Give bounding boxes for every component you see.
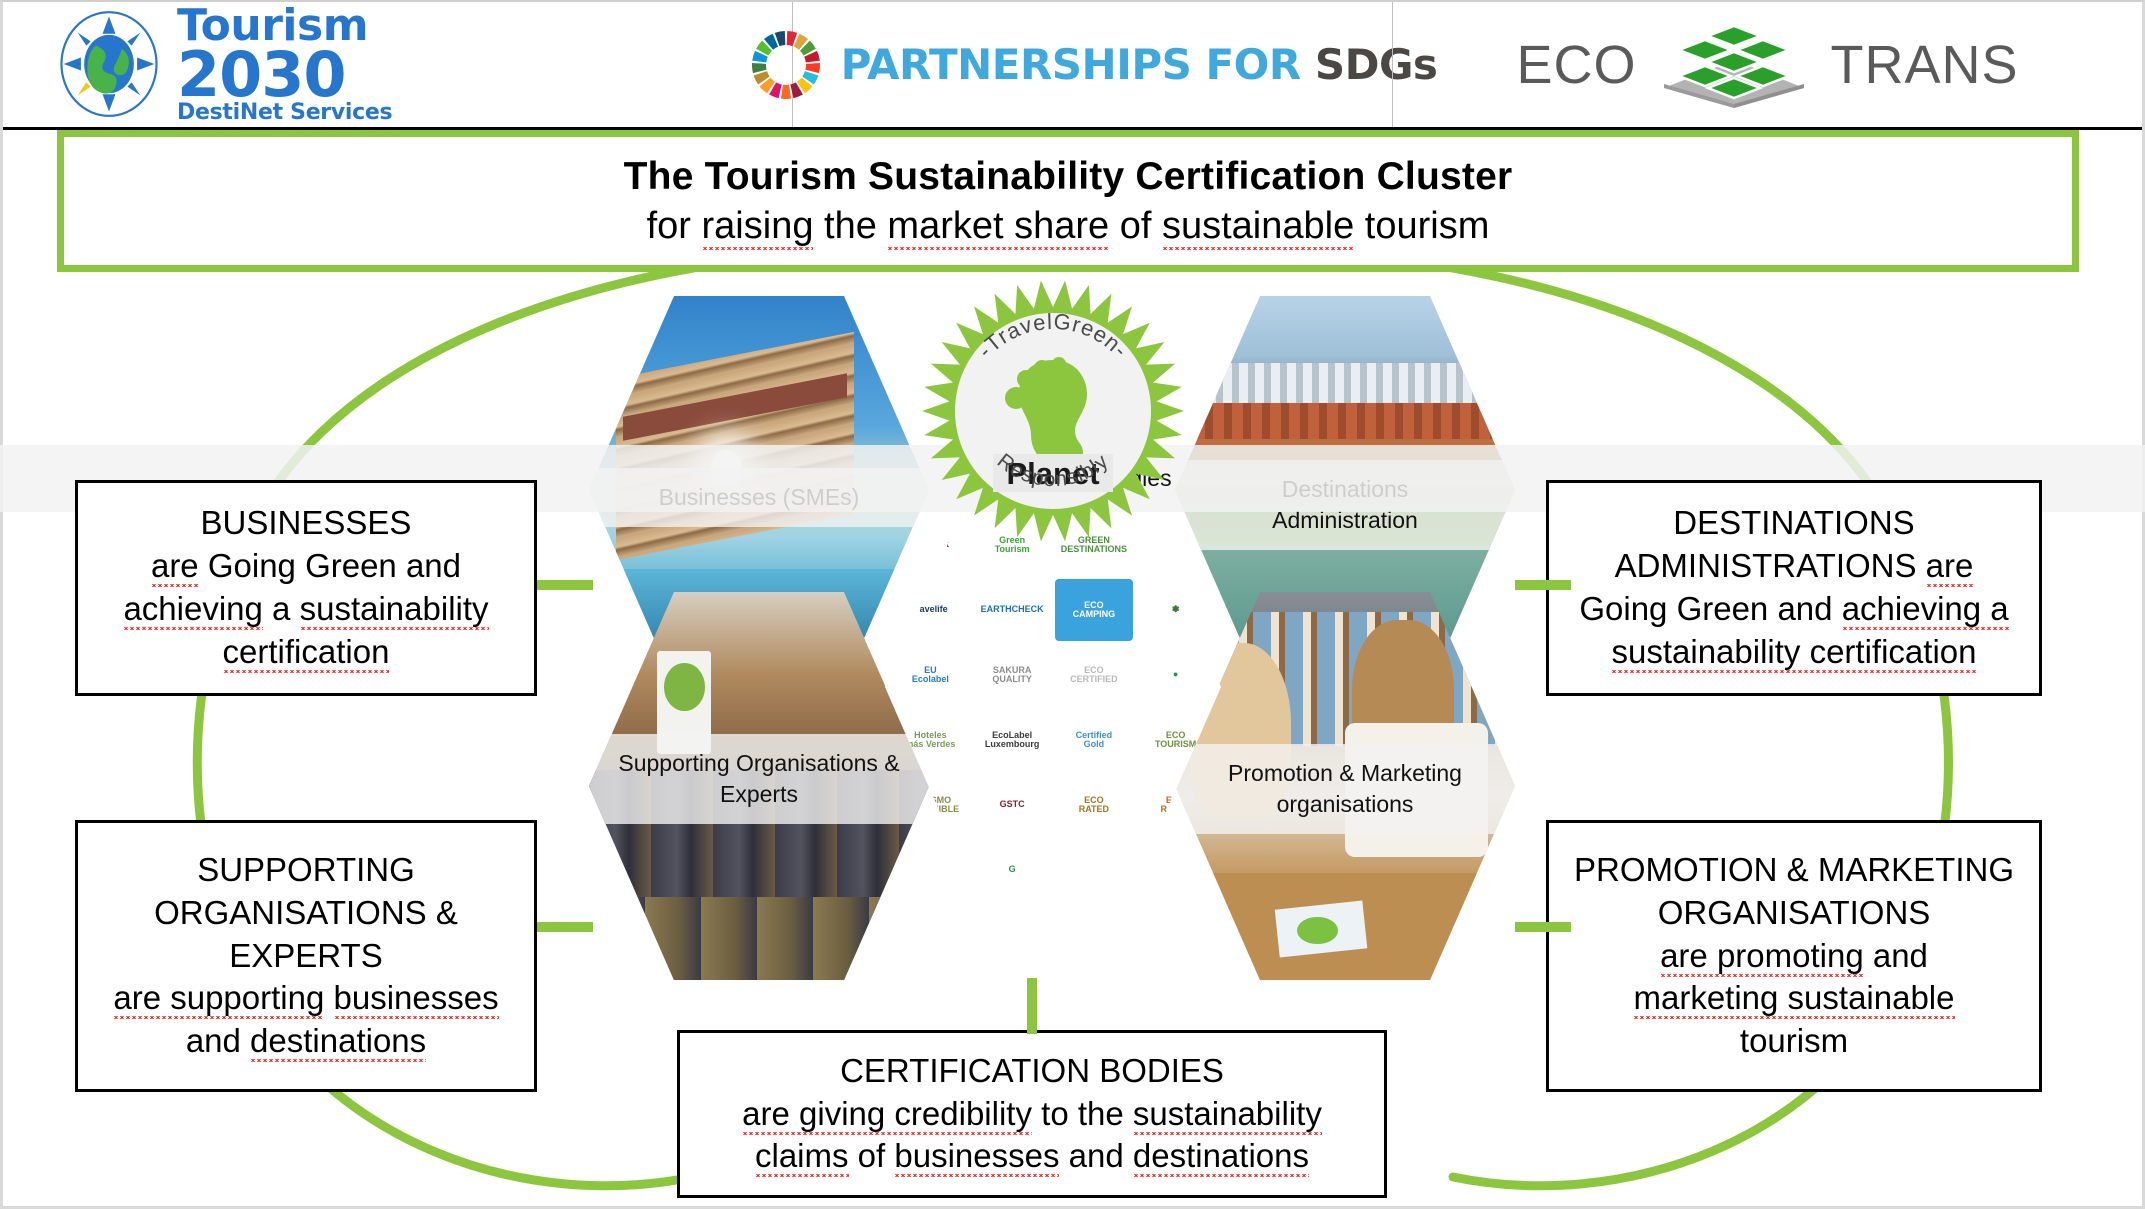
callout-line: tourism: [1574, 1020, 2014, 1063]
plain-text: a: [263, 590, 300, 627]
certification-logo: Certified Gold: [1055, 709, 1134, 771]
cluster-diagram: Businesses (SMEs) Destinations Administr…: [3, 272, 2142, 1208]
certification-logo: GSTC: [973, 774, 1052, 836]
spellchecked-text: businesses: [894, 1137, 1059, 1177]
callout-line: SUPPORTING: [113, 849, 498, 892]
callout-line: BUSINESSES: [123, 502, 488, 545]
plain-text: PROMOTION & MARKETING: [1574, 851, 2014, 888]
travelgreen-planet-badge[interactable]: -TravelGreen- Planet Responsibly: [918, 276, 1188, 546]
plain-text: ORGANISATIONS &: [154, 894, 458, 931]
plain-text: and: [186, 1022, 250, 1059]
callout-line: ADMINISTRATIONS are: [1579, 545, 2008, 588]
plain-text: ORGANISATIONS: [1658, 894, 1931, 931]
title-banner: The Tourism Sustainability Certification…: [57, 130, 2079, 272]
plain-text: of: [1109, 205, 1162, 247]
callout-line: claims of businesses and destinations: [742, 1135, 1322, 1178]
plain-text: tourism: [1740, 1022, 1848, 1059]
plain-text: the: [813, 205, 887, 247]
green-tiles-platform-icon: [1659, 20, 1809, 110]
callout-line: achieving a sustainability: [123, 588, 488, 631]
plain-text: to the: [1032, 1095, 1133, 1132]
plain-text: BUSINESSES: [201, 504, 412, 541]
tourism2030-logo: Tourism 2030 DestiNet Services: [3, 2, 793, 127]
callout-line: certification: [123, 631, 488, 674]
plain-text: [324, 979, 333, 1016]
callout-line: CERTIFICATION BODIES: [742, 1050, 1322, 1093]
ecotrans-logo: ECO TRANS: [1393, 2, 2142, 127]
callout-line: DESTINATIONS: [1579, 502, 2008, 545]
callout-text: PROMOTION & MARKETINGORGANISATIONSare pr…: [1574, 849, 2014, 1063]
certification-logo: G: [973, 839, 1052, 882]
certification-logo: ECO CAMPING: [1055, 579, 1134, 641]
logo-line-destinet: DestiNet Services: [177, 103, 392, 123]
plain-text: DESTINATIONS: [1673, 504, 1914, 541]
callout-line: Going Green and achieving a: [1579, 588, 2008, 631]
callout-certification-bodies[interactable]: CERTIFICATION BODIESare giving credibili…: [677, 1030, 1387, 1198]
plain-text: CERTIFICATION BODIES: [840, 1052, 1224, 1089]
certification-logo: EU Ecolabel: [891, 644, 970, 706]
plain-text: Going Green and: [199, 547, 461, 584]
callout-line: are giving credibility to the sustainabi…: [742, 1093, 1322, 1136]
spellchecked-text: certification: [223, 633, 390, 673]
spellchecked-text: sustainability certification: [1611, 633, 1976, 673]
callout-text: BUSINESSESare Going Green andachieving a…: [123, 502, 488, 674]
spellchecked-text: raising: [702, 205, 814, 250]
connector-support: [537, 922, 593, 932]
callout-line: are supporting businesses: [113, 977, 498, 1020]
sdg-partnership-logo: PARTNERSHIPS FOR SDGs: [793, 2, 1393, 127]
callout-line: sustainability certification: [1579, 631, 2008, 674]
spellchecked-text: are promoting: [1660, 937, 1864, 977]
plain-text: of: [849, 1137, 895, 1174]
page-title: The Tourism Sustainability Certification…: [624, 155, 1513, 199]
callout-text: CERTIFICATION BODIESare giving credibili…: [742, 1050, 1322, 1179]
connector-destinations: [1515, 580, 1571, 590]
callout-line: EXPERTS: [113, 935, 498, 978]
sdg-color-wheel-icon: [749, 28, 823, 102]
spellchecked-text: are giving credibility: [742, 1095, 1032, 1135]
plain-text: tourism: [1354, 205, 1489, 247]
spellchecked-text: market share: [887, 205, 1109, 250]
certification-logo: EARTHCHECK: [973, 579, 1052, 641]
plain-text: EXPERTS: [229, 937, 382, 974]
spellchecked-text: achieving a: [1842, 590, 2009, 630]
plain-text: for: [647, 205, 702, 247]
slide-canvas: Tourism 2030 DestiNet Services PARTNERSH…: [0, 0, 2145, 1209]
spellchecked-text: sustainability: [1133, 1095, 1322, 1135]
spellchecked-text: are: [151, 547, 199, 587]
callout-line: ORGANISATIONS: [1574, 892, 2014, 935]
page-subtitle: for raising the market share of sustaina…: [647, 205, 1490, 248]
callout-line: marketing sustainable: [1574, 977, 2014, 1020]
callout-text: DESTINATIONSADMINISTRATIONS areGoing Gre…: [1579, 502, 2008, 674]
plain-text: SUPPORTING: [197, 851, 415, 888]
ecotrans-text-left: ECO: [1516, 34, 1636, 96]
logo-line-2030: 2030: [177, 46, 392, 103]
callout-line: ORGANISATIONS &: [113, 892, 498, 935]
spellchecked-text: sustainability: [300, 590, 489, 630]
callout-supporting-organisations[interactable]: SUPPORTINGORGANISATIONS &EXPERTSare supp…: [75, 820, 537, 1092]
ecotrans-text-right: TRANS: [1831, 34, 2019, 96]
globe-compass-icon: [55, 10, 163, 118]
spellchecked-text: businesses: [334, 979, 499, 1019]
spellchecked-text: destinations: [1133, 1137, 1309, 1177]
callout-line: PROMOTION & MARKETING: [1574, 849, 2014, 892]
callout-promotion-marketing[interactable]: PROMOTION & MARKETINGORGANISATIONSare pr…: [1546, 820, 2042, 1092]
callout-businesses[interactable]: BUSINESSESare Going Green andachieving a…: [75, 480, 537, 696]
hexagon-caption: Promotion & Marketing organisations: [1175, 744, 1515, 834]
spellchecked-text: claims: [755, 1137, 849, 1177]
connector-businesses: [537, 580, 593, 590]
plain-text: and: [1059, 1137, 1132, 1174]
callout-line: are promoting and: [1574, 935, 2014, 978]
spellchecked-text: marketing sustainable: [1633, 979, 1954, 1019]
certification-logo: EcoLabel Luxembourg: [973, 709, 1052, 771]
plain-text: ADMINISTRATIONS: [1615, 547, 1926, 584]
certification-logo: SAKURA QUALITY: [973, 644, 1052, 706]
certification-logo: ECO CERTIFIED: [1055, 644, 1134, 706]
spellchecked-text: are supporting: [113, 979, 324, 1019]
callout-text: SUPPORTINGORGANISATIONS &EXPERTSare supp…: [113, 849, 498, 1063]
callout-destinations-administrations[interactable]: DESTINATIONSADMINISTRATIONS areGoing Gre…: [1546, 480, 2042, 696]
hexagon-caption: Supporting Organisations & Experts: [589, 734, 929, 824]
certification-logo: ●: [1136, 644, 1215, 706]
connector-promotion: [1515, 922, 1571, 932]
connector-certification: [1027, 978, 1037, 1034]
spellchecked-text: achieving: [123, 590, 262, 630]
certification-logo: ECO RATED: [1055, 774, 1134, 836]
plain-text: Going Green and: [1579, 590, 1841, 627]
plain-text: and: [1864, 937, 1928, 974]
spellchecked-text: sustainable: [1162, 205, 1354, 250]
spellchecked-text: are: [1926, 547, 1974, 587]
slide-header: Tourism 2030 DestiNet Services PARTNERSH…: [3, 2, 2142, 130]
callout-line: are Going Green and: [123, 545, 488, 588]
spellchecked-text: destinations: [250, 1022, 426, 1062]
sdg-text-primary: PARTNERSHIPS FOR: [841, 40, 1301, 89]
callout-line: and destinations: [113, 1020, 498, 1063]
